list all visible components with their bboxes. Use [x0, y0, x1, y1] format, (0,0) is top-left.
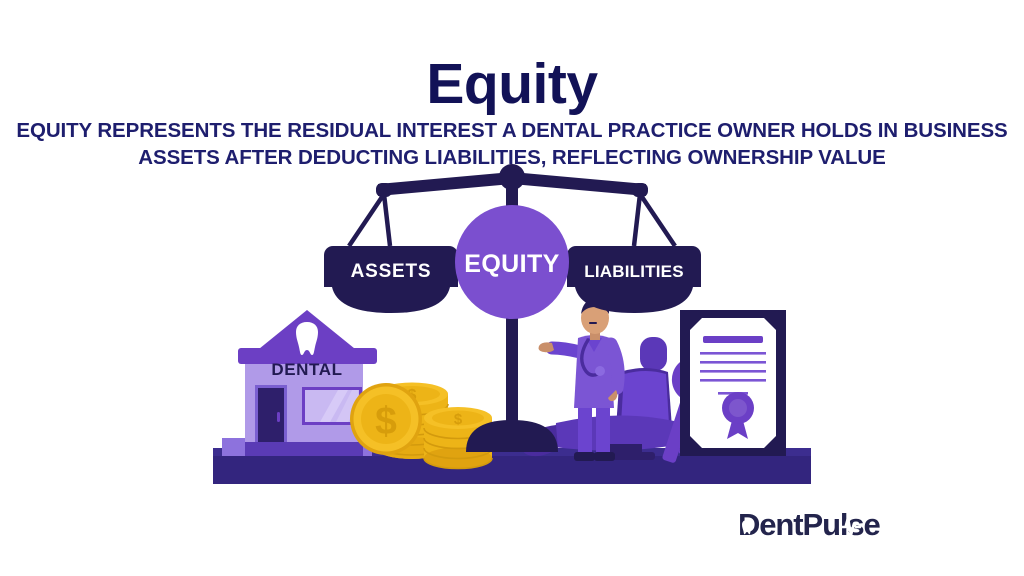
poster-canvas: Equity EQUITY REPRESENTS THE RESIDUAL IN… [0, 0, 1024, 576]
dentpulse-logo-mark: DentPulse [738, 507, 918, 543]
scale-label-liabilities: LIABILITIES [584, 262, 683, 281]
coin-dollar-symbol: $ [454, 411, 463, 428]
scale-label-assets: ASSETS [351, 261, 432, 282]
logo-wordmark: DentPulse [738, 507, 881, 542]
equity-illustration: DENTAL [0, 0, 1024, 576]
brand-logo: DentPulse [738, 508, 918, 542]
scale-pan-assets: ASSETS [324, 246, 458, 313]
equity-circle: EQUITY [455, 205, 569, 319]
equity-circle-label: EQUITY [464, 250, 559, 278]
clinic-sign-text: DENTAL [271, 360, 342, 379]
scale-pan-liabilities: LIABILITIES [567, 246, 701, 313]
certificate-document [680, 310, 786, 456]
coin-dollar-symbol: $ [375, 400, 397, 443]
coin-front-standing: $ [350, 383, 422, 455]
